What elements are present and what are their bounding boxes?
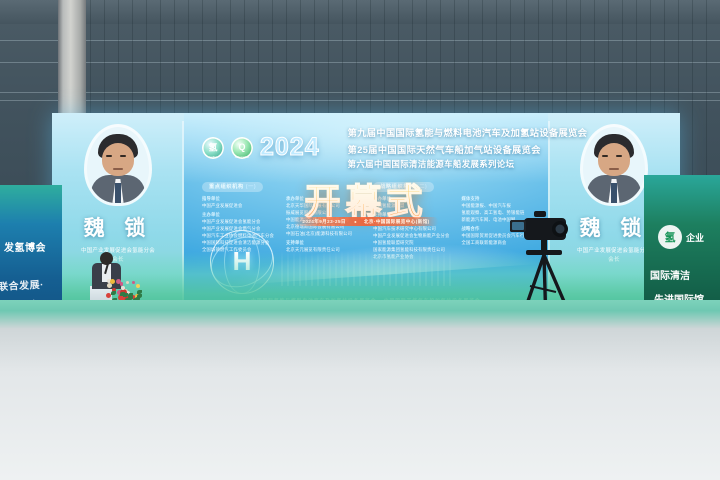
event-place: 北京·中国国际展览中心(新馆) [364, 219, 430, 225]
foliage [111, 291, 116, 295]
organizer-logo-hydrogen-icon: 氢 CHINA [202, 137, 224, 159]
wall-seam [0, 100, 720, 101]
organizer-group: 指导单位中国产业发展促进会 [202, 196, 274, 209]
organizer-logo-gas-icon: Q NGV CHINA [231, 137, 253, 159]
event-title-2: 第25届中国国际天然气车船加气站设备展览会 [348, 142, 588, 156]
organizer-group-line: 中国汽车技术研究中心有限公司 [373, 225, 449, 232]
organizer-group-line: 北京市氢能产业协会 [373, 253, 449, 260]
hydrogen-globe-icon: H [210, 230, 274, 294]
event-date-bar: 2024年9月23-25日 北京·中国国际展览中心(新馆) [293, 217, 438, 226]
screen-header: 氢 CHINA Q NGV CHINA 2024 第九届中国国际氢能与燃料电池汽… [202, 125, 538, 170]
avatar [583, 127, 645, 203]
organizer-group-line: 中国产业发展促进会氢能分会 [202, 218, 274, 225]
foliage [137, 294, 142, 298]
conference-photo: (function(){ const w=document.querySelec… [0, 0, 720, 480]
audience-area [0, 300, 720, 480]
flower [126, 281, 129, 284]
organizer-group-line: 中国产业发展促进会 [202, 202, 274, 209]
foliage [120, 292, 125, 296]
banner-left-line-2: 联合发展· [0, 276, 44, 293]
city-skyline-graphic [281, 250, 451, 286]
wall-seam [0, 92, 720, 93]
flower [120, 282, 124, 286]
flower [136, 284, 140, 288]
screen-center-content: 氢 CHINA Q NGV CHINA 2024 第九届中国国际氢能与燃料电池汽… [184, 113, 548, 310]
year-label: 2024 [260, 133, 320, 162]
wall-seam [0, 40, 720, 41]
speaker-name: 魏 锁 [52, 212, 184, 242]
ceiling-band [0, 0, 720, 24]
event-titles: 第九届中国国际氢能与燃料电池汽车及加氢站设备展览会 第25届中国国际天然气车船加… [348, 125, 588, 170]
event-title-3: 第六届中国国际清洁能源车船发展系列论坛 [348, 158, 588, 170]
avatar [87, 127, 149, 203]
flower [107, 283, 112, 288]
organizer-block-left-tag: 重点组织机构 (一) [202, 182, 263, 192]
banner-right-line-1: 国际清洁 [650, 267, 690, 282]
flower [132, 281, 135, 284]
banner-right-side-text: 企业 [686, 231, 704, 244]
organizer-group-line: 中国石油(北京)能源科技有限公司 [286, 230, 352, 237]
banner-right-logo-icon: 氢 [658, 225, 682, 249]
banner-left-line-1: 发氢博会 [4, 239, 46, 254]
event-title-1: 第九届中国国际氢能与燃料电池汽车及加氢站设备展览会 [348, 125, 588, 139]
date-separator-dot [354, 221, 356, 223]
wall-seam [0, 62, 720, 63]
event-date: 2024年9月23-25日 [302, 219, 346, 225]
